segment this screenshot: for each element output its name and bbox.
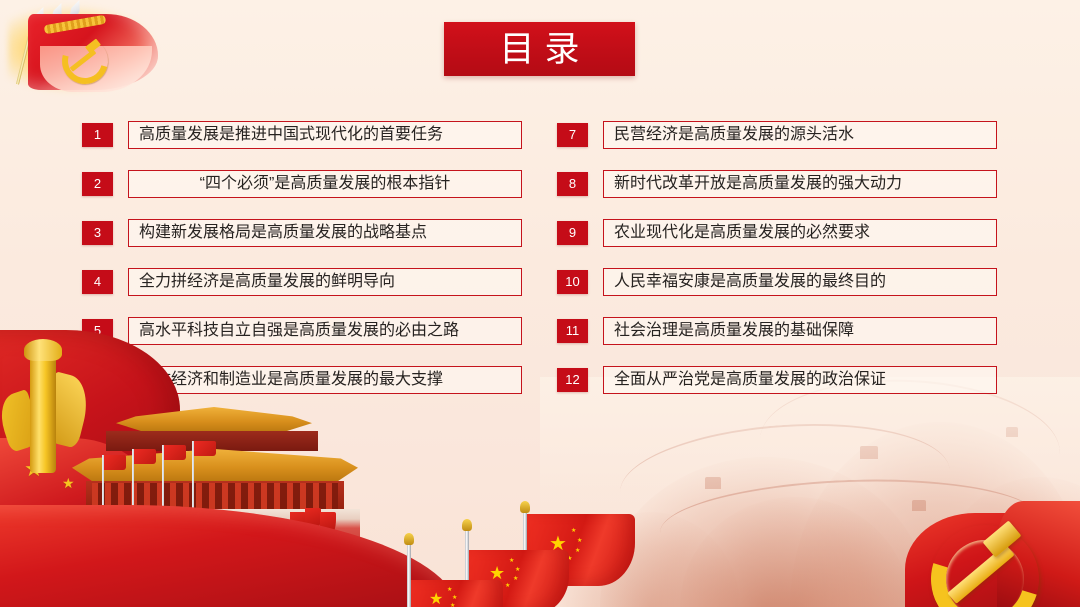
hammer-and-sickle-icon (60, 36, 104, 76)
list-item[interactable]: 4 全力拼经济是高质量发展的鲜明导向 (82, 257, 522, 306)
foreground-red-ribbon (0, 505, 460, 607)
national-flags-group: ★ ★ ★ ★ ★ ★ ★ ★ ★ ★ ★ ★ ★ ★ ★ (405, 498, 675, 607)
list-item[interactable]: 3 构建新发展格局是高质量发展的战略基点 (82, 208, 522, 257)
item-number-badge: 4 (82, 270, 113, 294)
item-label: 高质量发展是推进中国式现代化的首要任务 (129, 127, 453, 143)
item-text-box[interactable]: 人民幸福安康是高质量发展的最终目的 (603, 268, 997, 296)
item-number-badge: 10 (557, 270, 588, 294)
list-item[interactable]: 1 高质量发展是推进中国式现代化的首要任务 (82, 110, 522, 159)
list-item[interactable]: 7 民营经济是高质量发展的源头活水 (557, 110, 997, 159)
item-label: “四个必须”是高质量发展的根本指针 (200, 176, 451, 192)
item-number-badge: 2 (82, 172, 113, 196)
item-text-box[interactable]: 民营经济是高质量发展的源头活水 (603, 121, 997, 149)
item-text-box[interactable]: 高水平科技自立自强是高质量发展的必由之路 (128, 317, 522, 345)
item-text-box[interactable]: 实体经济和制造业是高质量发展的最大支撑 (128, 366, 522, 394)
item-label: 全面从严治党是高质量发展的政治保证 (604, 372, 896, 388)
list-item[interactable]: 10 人民幸福安康是高质量发展的最终目的 (557, 257, 997, 306)
list-item[interactable]: 12 全面从严治党是高质量发展的政治保证 (557, 355, 997, 404)
item-text-box[interactable]: 构建新发展格局是高质量发展的战略基点 (128, 219, 522, 247)
toc-column-right: 7 民营经济是高质量发展的源头活水 8 新时代改革开放是高质量发展的强大动力 9… (557, 110, 997, 404)
presentation-slide: 目录 1 高质量发展是推进中国式现代化的首要任务 2 “四个必须”是高质量发展的… (0, 0, 1080, 607)
item-text-box[interactable]: 农业现代化是高质量发展的必然要求 (603, 219, 997, 247)
list-item[interactable]: 5 高水平科技自立自强是高质量发展的必由之路 (82, 306, 522, 355)
item-number-badge: 3 (82, 221, 113, 245)
item-number-badge: 8 (557, 172, 588, 196)
item-number-badge: 12 (557, 368, 588, 392)
item-number-badge: 1 (82, 123, 113, 147)
item-label: 社会治理是高质量发展的基础保障 (604, 323, 864, 339)
list-item[interactable]: 9 农业现代化是高质量发展的必然要求 (557, 208, 997, 257)
item-number-badge: 7 (557, 123, 588, 147)
item-label: 农业现代化是高质量发展的必然要求 (604, 225, 880, 241)
item-label: 民营经济是高质量发展的源头活水 (604, 127, 864, 143)
item-number-badge: 9 (557, 221, 588, 245)
party-flag-icon (0, 0, 175, 105)
list-item[interactable]: 8 新时代改革开放是高质量发展的强大动力 (557, 159, 997, 208)
item-label: 高水平科技自立自强是高质量发展的必由之路 (129, 323, 469, 339)
slide-title-banner: 目录 (444, 22, 635, 76)
item-text-box[interactable]: “四个必须”是高质量发展的根本指针 (128, 170, 522, 198)
item-label: 构建新发展格局是高质量发展的战略基点 (129, 225, 437, 241)
list-item[interactable]: 11 社会治理是高质量发展的基础保障 (557, 306, 997, 355)
item-text-box[interactable]: 高质量发展是推进中国式现代化的首要任务 (128, 121, 522, 149)
item-number-badge: 11 (557, 319, 588, 343)
item-text-box[interactable]: 全面从严治党是高质量发展的政治保证 (603, 366, 997, 394)
item-label: 实体经济和制造业是高质量发展的最大支撑 (129, 372, 453, 388)
item-label: 新时代改革开放是高质量发展的强大动力 (604, 176, 912, 192)
item-label: 人民幸福安康是高质量发展的最终目的 (604, 274, 896, 290)
list-item[interactable]: 2 “四个必须”是高质量发展的根本指针 (82, 159, 522, 208)
hammer-and-sickle-icon (927, 523, 1037, 607)
page-title: 目录 (489, 32, 589, 67)
party-emblem-icon (905, 495, 1080, 607)
item-text-box[interactable]: 全力拼经济是高质量发展的鲜明导向 (128, 268, 522, 296)
item-text-box[interactable]: 新时代改革开放是高质量发展的强大动力 (603, 170, 997, 198)
item-label: 全力拼经济是高质量发展的鲜明导向 (129, 274, 405, 290)
item-text-box[interactable]: 社会治理是高质量发展的基础保障 (603, 317, 997, 345)
